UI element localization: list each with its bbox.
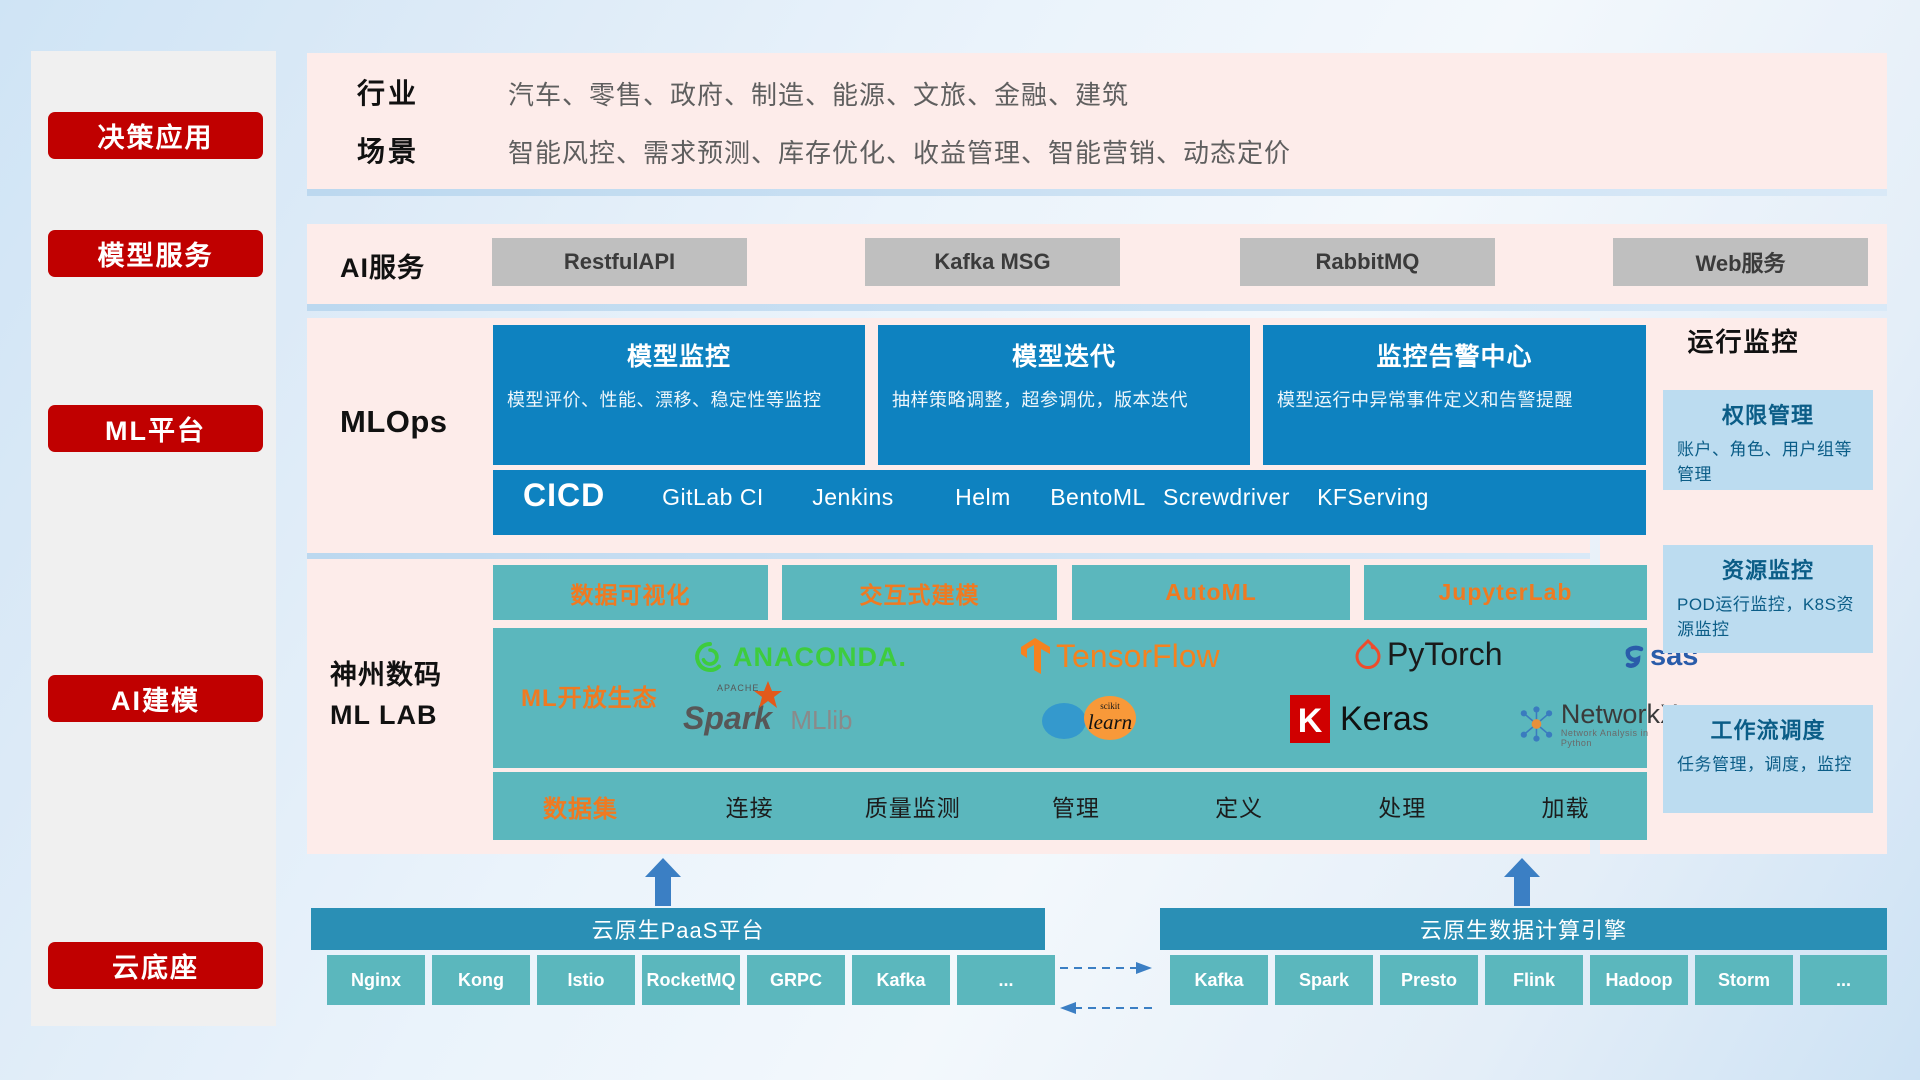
cicd-item-helm[interactable]: Helm: [923, 482, 1043, 512]
up-arrow-right: [1502, 858, 1542, 906]
right-monitor-title: 运行监控: [1600, 322, 1887, 359]
rail-tag-label: 模型服务: [98, 234, 214, 273]
card-desc: 模型运行中异常事件定义和告警提醒: [1277, 387, 1632, 414]
chip-label: Web服务: [1695, 246, 1785, 278]
industry-label: 行业: [357, 72, 419, 112]
ai-service-chip-restfulapi[interactable]: RestfulAPI: [492, 238, 747, 286]
chip-label: Spark: [1299, 970, 1349, 991]
rail-tag-model-service[interactable]: 模型服务: [48, 230, 263, 277]
rail-tag-label: 决策应用: [98, 116, 214, 155]
paas-platform-bar[interactable]: 云原生PaaS平台: [311, 908, 1045, 950]
bar-label: 云原生数据计算引擎: [1420, 913, 1627, 945]
scikit-learn-logo: scikit learn: [1038, 696, 1168, 742]
ai-service-chip-web-service[interactable]: Web服务: [1613, 238, 1868, 286]
chip-label: GRPC: [770, 970, 822, 991]
rail-tag-ml-platform[interactable]: ML平台: [48, 405, 263, 452]
chip-label: Presto: [1401, 970, 1457, 991]
ai-service-chip-kafka-msg[interactable]: Kafka MSG: [865, 238, 1120, 286]
card-desc: 抽样策略调整，超参调优，版本迭代: [892, 387, 1236, 414]
cloud-chip-rocketmq[interactable]: RocketMQ: [642, 955, 740, 1005]
engine-chip-presto[interactable]: Presto: [1380, 955, 1478, 1005]
chip-label: Kafka MSG: [934, 249, 1050, 275]
anaconda-icon: [693, 640, 727, 674]
chip-label: Flink: [1513, 970, 1555, 991]
anaconda-wordmark: ANACONDA.: [733, 642, 907, 673]
bar-label: 云原生PaaS平台: [592, 913, 765, 945]
networkx-logo: NetworkX Network Analysis in Python: [1518, 700, 1679, 748]
keras-logo: K Keras: [1288, 694, 1429, 744]
rail-tag-label: ML平台: [105, 409, 206, 448]
engine-chip-spark[interactable]: Spark: [1275, 955, 1373, 1005]
band-separator: [307, 189, 1887, 196]
ml-lab-label-line1: 神州数码: [330, 655, 442, 695]
rail-tag-label: 云底座: [112, 946, 199, 985]
scene-label: 场景: [357, 130, 419, 170]
chip-label: RestfulAPI: [564, 249, 675, 275]
chip-label: Kafka: [876, 970, 925, 991]
mllib-wordmark: MLlib: [790, 705, 852, 735]
card-desc: 模型评价、性能、漂移、稳定性等监控: [507, 387, 851, 414]
scikit-learn-icon: scikit learn: [1038, 696, 1168, 742]
rail-tag-decision-app[interactable]: 决策应用: [48, 112, 263, 159]
cloud-chip-more-left[interactable]: ...: [957, 955, 1055, 1005]
pytorch-icon: [1353, 638, 1383, 672]
up-arrow-left: [643, 858, 683, 906]
mlops-card-model-iteration[interactable]: 模型迭代 抽样策略调整，超参调优，版本迭代: [878, 325, 1250, 465]
chip-label: 交互式建模: [860, 576, 980, 610]
svg-text:K: K: [1298, 702, 1323, 740]
spark-mllib-logo: APACHE Spark MLlib: [683, 700, 853, 737]
card-desc: POD运行监控，K8S资源监控: [1677, 592, 1859, 642]
lab-chip-data-visualization[interactable]: 数据可视化: [493, 565, 768, 620]
chip-label: RocketMQ: [646, 970, 735, 991]
networkx-wordmark: NetworkX: [1561, 700, 1679, 728]
card-title: 模型迭代: [892, 337, 1236, 373]
architecture-diagram: 决策应用 模型服务 ML平台 AI建模 云底座 行业 汽车、零售、政府、制造、能…: [0, 0, 1920, 1080]
rail-tag-label: AI建模: [111, 679, 200, 718]
industry-text: 汽车、零售、政府、制造、能源、文旅、金融、建筑: [508, 75, 1129, 112]
chip-label: Hadoop: [1606, 970, 1673, 991]
cloud-chip-istio[interactable]: Istio: [537, 955, 635, 1005]
tensorflow-logo: TensorFlow: [1018, 636, 1220, 676]
monitor-card-permission[interactable]: 权限管理 账户、角色、用户组等管理: [1663, 390, 1873, 490]
svg-text:learn: learn: [1088, 710, 1132, 734]
spark-star-icon: [753, 680, 783, 710]
dataset-item-connect[interactable]: 连接: [668, 789, 831, 823]
ml-open-ecosystem-panel: ML开放生态 ANACONDA. TensorFlow PyTorch: [493, 628, 1647, 768]
chip-label: Nginx: [351, 970, 401, 991]
chip-label: Storm: [1718, 970, 1770, 991]
card-title: 监控告警中心: [1277, 337, 1632, 373]
card-title: 模型监控: [507, 337, 851, 373]
card-title: 工作流调度: [1677, 713, 1859, 745]
rail-tag-cloud-base[interactable]: 云底座: [48, 942, 263, 989]
mlops-label: MLOps: [340, 404, 448, 440]
tensorflow-wordmark: TensorFlow: [1056, 638, 1220, 675]
networkx-tagline: Network Analysis in Python: [1561, 728, 1679, 748]
sas-icon: [1618, 642, 1648, 672]
ml-lab-label: 神州数码 ML LAB: [330, 655, 442, 735]
tensorflow-icon: [1018, 636, 1052, 676]
dataset-row: 数据集 连接 质量监测 管理 定义 处理 加载: [493, 772, 1647, 840]
engine-chip-hadoop[interactable]: Hadoop: [1590, 955, 1688, 1005]
cloud-chip-grpc[interactable]: GRPC: [747, 955, 845, 1005]
data-compute-engine-bar[interactable]: 云原生数据计算引擎: [1160, 908, 1887, 950]
cicd-title: CICD: [523, 477, 605, 514]
cicd-item-gitlab-ci[interactable]: GitLab CI: [653, 482, 773, 512]
ai-service-chip-rabbitmq[interactable]: RabbitMQ: [1240, 238, 1495, 286]
card-title: 权限管理: [1677, 398, 1859, 430]
monitor-card-resource[interactable]: 资源监控 POD运行监控，K8S资源监控: [1663, 545, 1873, 653]
anaconda-logo: ANACONDA.: [693, 640, 907, 674]
rail-tag-ai-modeling[interactable]: AI建模: [48, 675, 263, 722]
engine-chip-flink[interactable]: Flink: [1485, 955, 1583, 1005]
chip-label: ...: [1836, 970, 1851, 991]
engine-chip-kafka[interactable]: Kafka: [1170, 955, 1268, 1005]
lab-chip-automl[interactable]: AutoML: [1072, 565, 1350, 620]
cicd-item-jenkins[interactable]: Jenkins: [793, 482, 913, 512]
dataset-title: 数据集: [493, 789, 668, 824]
cloud-chip-kafka[interactable]: Kafka: [852, 955, 950, 1005]
cicd-item-kfserving[interactable]: KFServing: [1313, 482, 1433, 512]
dataset-item-processing[interactable]: 处理: [1321, 789, 1484, 823]
chip-label: Kafka: [1194, 970, 1243, 991]
dashed-arrow-left: [1060, 1000, 1152, 1021]
engine-chip-more-right[interactable]: ...: [1800, 955, 1887, 1005]
ml-open-ecosystem-label: ML开放生态: [521, 678, 658, 713]
dataset-item-definition[interactable]: 定义: [1158, 789, 1321, 823]
card-desc: 任务管理，调度，监控: [1677, 752, 1859, 777]
cicd-bar: CICD GitLab CI Jenkins Helm BentoML Scre…: [493, 470, 1646, 535]
chip-label: ...: [998, 970, 1013, 991]
mlops-card-model-monitoring[interactable]: 模型监控 模型评价、性能、漂移、稳定性等监控: [493, 325, 865, 465]
pytorch-wordmark: PyTorch: [1387, 636, 1503, 673]
cloud-chip-nginx[interactable]: Nginx: [327, 955, 425, 1005]
chip-label: Istio: [567, 970, 604, 991]
ai-service-label: AI服务: [340, 246, 425, 285]
dashed-arrow-right: [1060, 960, 1152, 981]
chip-label: 数据可视化: [571, 576, 691, 610]
monitor-card-workflow[interactable]: 工作流调度 任务管理，调度，监控: [1663, 705, 1873, 813]
keras-icon: K: [1288, 694, 1332, 744]
dataset-item-management[interactable]: 管理: [994, 789, 1157, 823]
chip-label: AutoML: [1165, 579, 1257, 606]
left-rail: [31, 51, 276, 1026]
dataset-item-quality-monitoring[interactable]: 质量监测: [831, 789, 994, 823]
engine-chip-storm[interactable]: Storm: [1695, 955, 1793, 1005]
chip-label: JupyterLab: [1439, 579, 1573, 606]
band-separator: [307, 304, 1887, 311]
networkx-icon: [1518, 705, 1555, 743]
ml-lab-label-line2: ML LAB: [330, 695, 442, 735]
lab-chip-interactive-modeling[interactable]: 交互式建模: [782, 565, 1057, 620]
cloud-chip-kong[interactable]: Kong: [432, 955, 530, 1005]
scene-text: 智能风控、需求预测、库存优化、收益管理、智能营销、动态定价: [508, 133, 1291, 170]
chip-label: RabbitMQ: [1316, 249, 1420, 275]
pytorch-logo: PyTorch: [1353, 636, 1503, 673]
card-title: 资源监控: [1677, 553, 1859, 585]
dataset-item-loading[interactable]: 加载: [1484, 789, 1647, 823]
cicd-item-screwdriver[interactable]: Screwdriver: [1163, 482, 1283, 512]
keras-wordmark: Keras: [1340, 700, 1429, 739]
lab-chip-jupyterlab[interactable]: JupyterLab: [1364, 565, 1647, 620]
chip-label: Kong: [458, 970, 504, 991]
mlops-card-alert-center[interactable]: 监控告警中心 模型运行中异常事件定义和告警提醒: [1263, 325, 1646, 465]
cicd-item-bentoml[interactable]: BentoML: [1038, 482, 1158, 512]
card-desc: 账户、角色、用户组等管理: [1677, 437, 1859, 487]
